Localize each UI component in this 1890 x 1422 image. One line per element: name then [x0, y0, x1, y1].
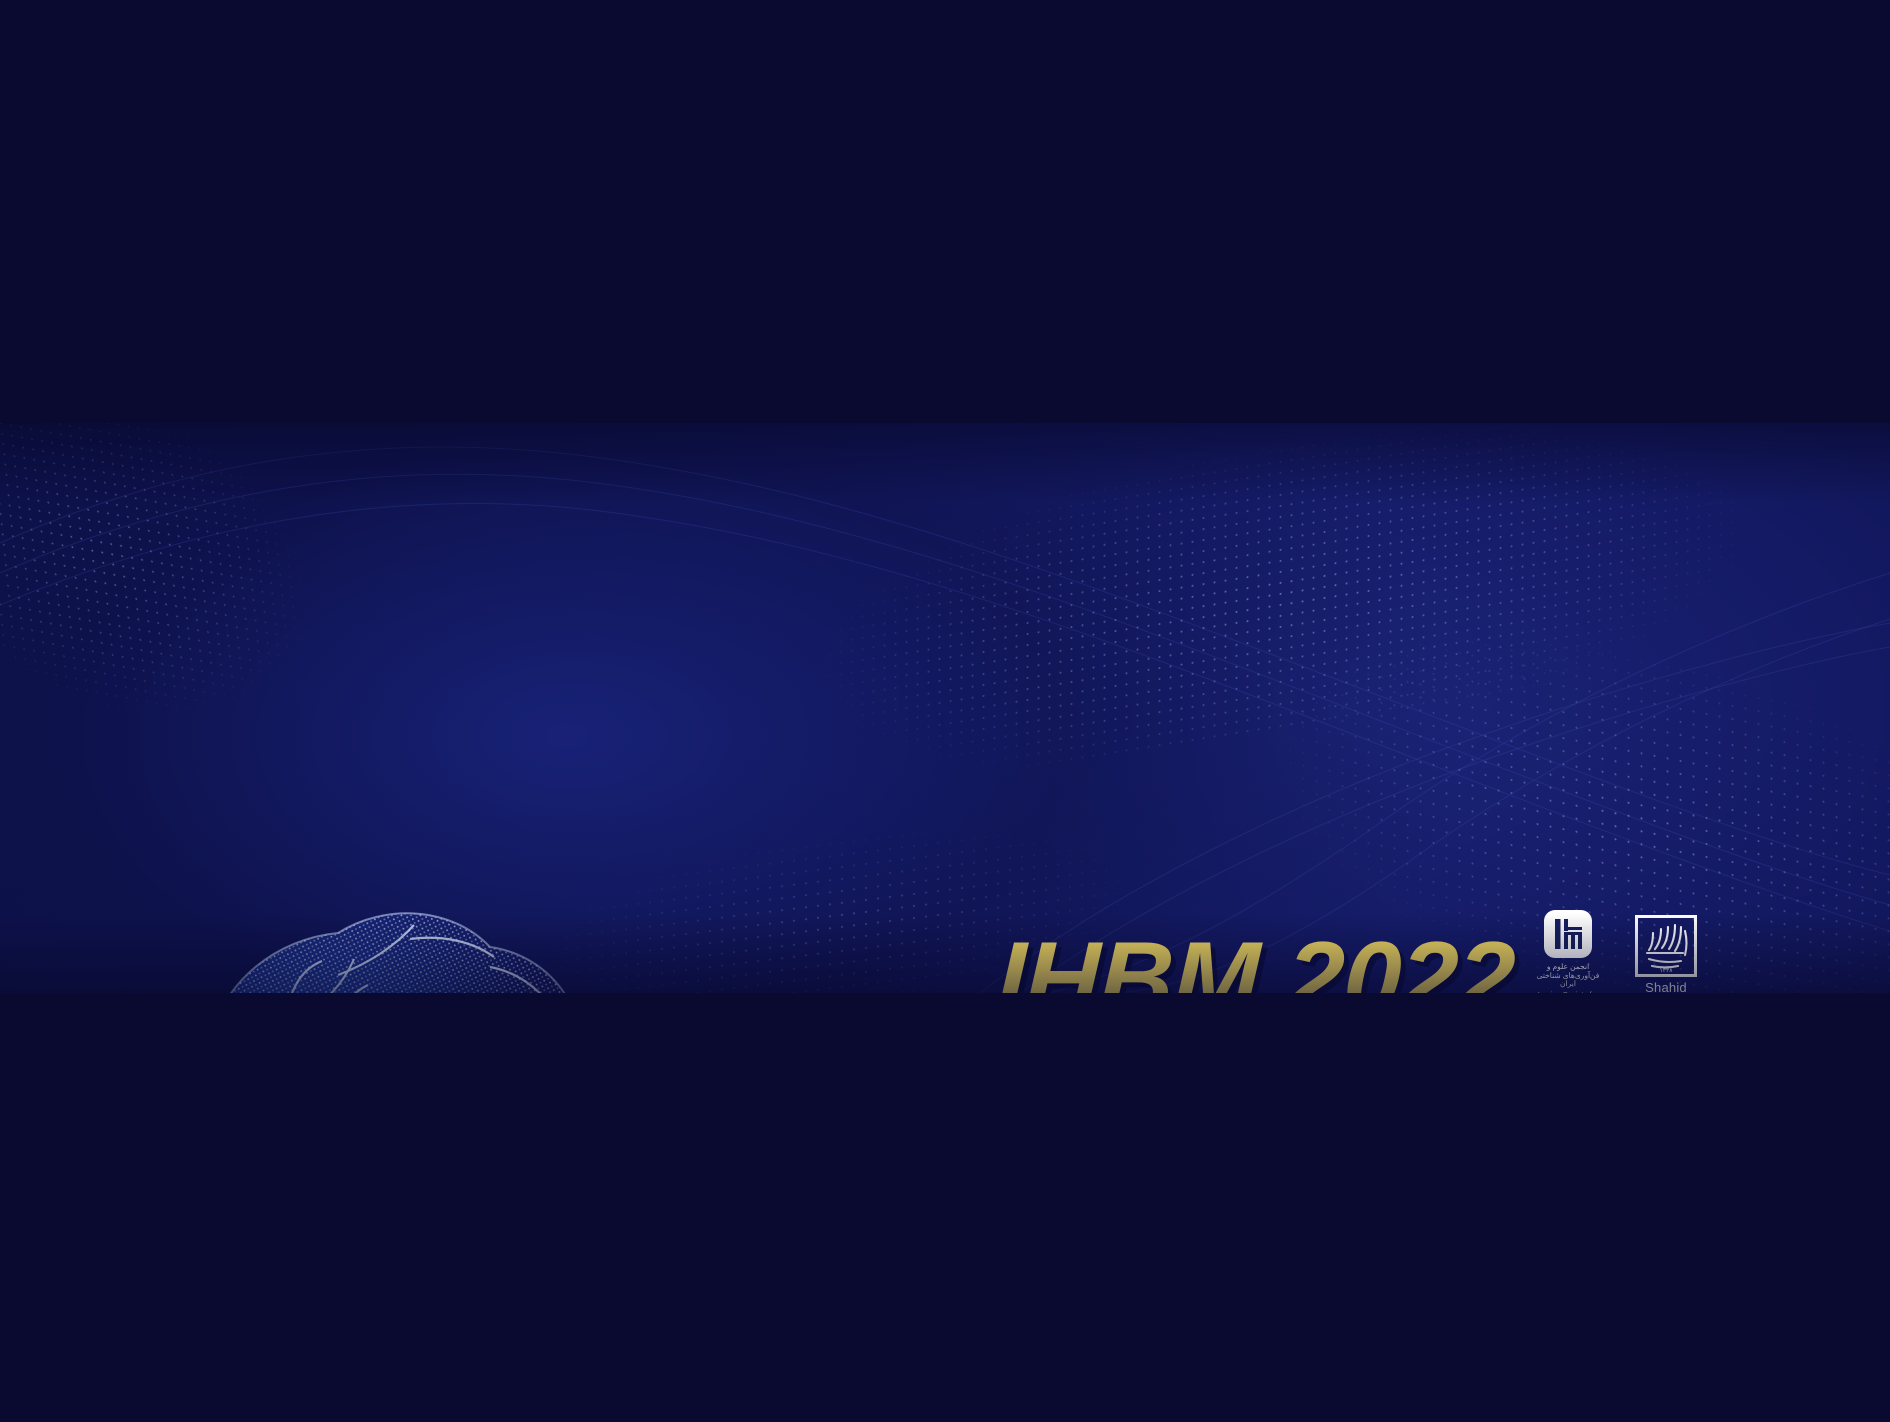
conference-banner: IHBM 2022 انجمن علوم و فن‌آوری‌های شناخت…	[0, 423, 1890, 993]
banner-content: IHBM 2022 انجمن علوم و فن‌آوری‌های شناخت…	[0, 846, 1890, 993]
page-canvas: IHBM 2022 انجمن علوم و فن‌آوری‌های شناخت…	[0, 0, 1890, 1422]
dot-texture-top-left	[0, 423, 396, 802]
society-mark-icon	[1542, 908, 1594, 960]
seal-year: ۱۳۳۸	[1660, 967, 1674, 974]
shahid-beheshti-university-logo: ۱۳۳۸ Shahid Beheshti University	[1622, 915, 1710, 993]
title-and-logos-row: IHBM 2022 انجمن علوم و فن‌آوری‌های شناخت…	[997, 908, 1710, 993]
university-seal-icon: ۱۳۳۸	[1635, 915, 1697, 977]
dot-texture-top-right	[780, 423, 1890, 814]
iranian-society-cognitive-science-logo: انجمن علوم و فن‌آوری‌های شناختی ایران Ir…	[1532, 908, 1604, 993]
page-title: IHBM 2022	[995, 930, 1515, 993]
society-caption-en-1: Iranian Society for Cognitive	[1532, 990, 1604, 993]
society-caption-fa: انجمن علوم و فن‌آوری‌های شناختی ایران	[1532, 963, 1604, 989]
university-caption-en-1: Shahid Beheshti	[1622, 981, 1710, 993]
